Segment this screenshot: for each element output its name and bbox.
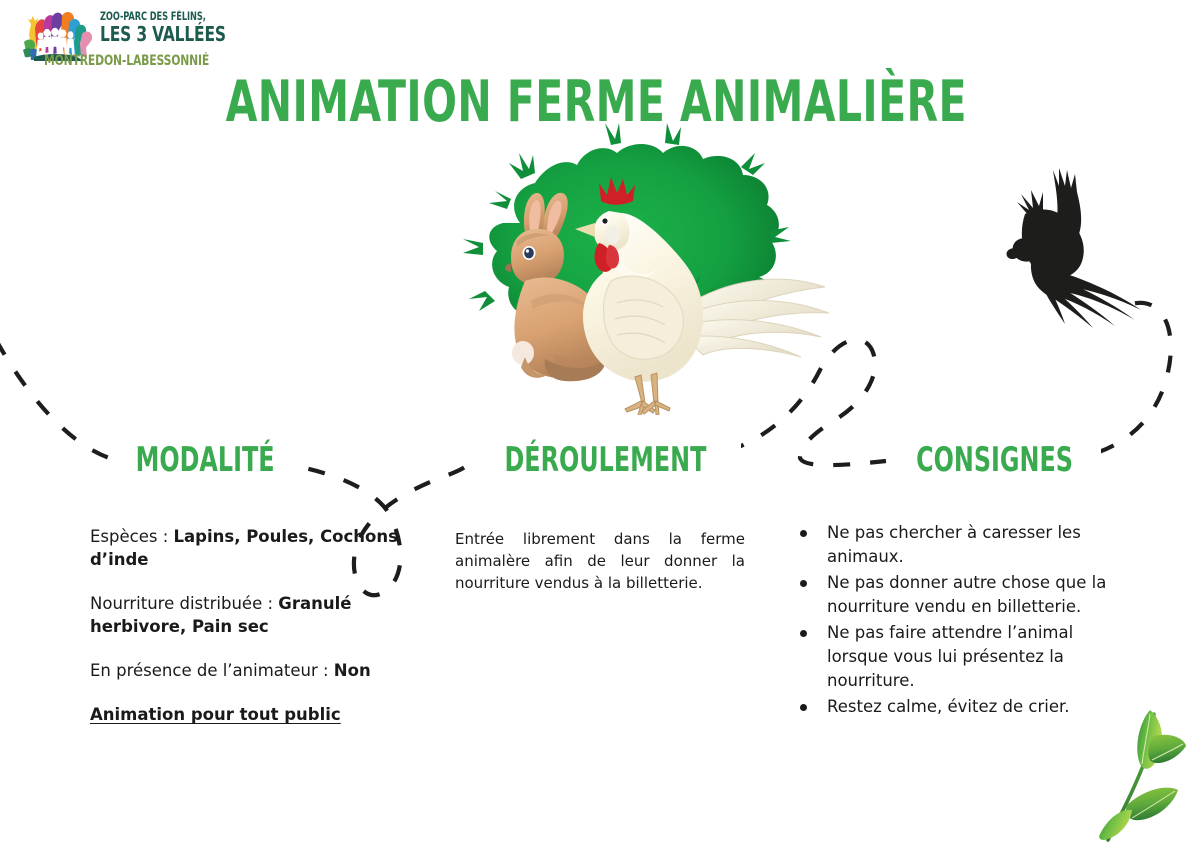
modalite-label-nourriture: Nourriture distribuée :: [90, 594, 278, 613]
modalite-row-nourriture: Nourriture distribuée : Granulé herbivor…: [90, 592, 400, 638]
list-item: Ne pas donner autre chose que la nourrit…: [793, 571, 1123, 619]
section-heading-consignes: CONSIGNES: [888, 441, 1101, 479]
modalite-value-animateur: Non: [334, 661, 371, 680]
logo-line-3: MONTREDON-LABESSONNIÉ: [44, 53, 209, 69]
parrot-silhouette-icon: [995, 168, 1175, 333]
zoo-logo[interactable]: ZOO-PARC DES FÉLINS, LES 3 VALLÉES MONTR…: [22, 8, 222, 74]
section-heading-consignes-text: CONSIGNES: [916, 441, 1073, 479]
modalite-public-note: Animation pour tout public: [90, 703, 400, 726]
logo-line-2: LES 3 VALLÉES: [100, 23, 204, 45]
modalite-row-especes: Espèces : Lapins, Poules, Cochons d’inde: [90, 525, 400, 571]
deroulement-paragraph: Entrée librement dans la ferme animalère…: [455, 528, 745, 594]
section-heading-modalite-text: MODALITÉ: [136, 441, 275, 479]
list-item: Restez calme, évitez de crier.: [793, 695, 1123, 719]
modalite-content: Espèces : Lapins, Poules, Cochons d’inde…: [90, 525, 400, 726]
consignes-list: Ne pas chercher à caresser les animaux. …: [793, 521, 1123, 719]
consignes-content: Ne pas chercher à caresser les animaux. …: [793, 521, 1123, 721]
section-heading-deroulement: DÉROULEMENT: [470, 441, 741, 479]
zoo-logo-text: ZOO-PARC DES FÉLINS, LES 3 VALLÉES MONTR…: [100, 10, 224, 45]
section-heading-deroulement-text: DÉROULEMENT: [504, 441, 706, 479]
section-heading-modalite: MODALITÉ: [110, 441, 300, 479]
modalite-label-animateur: En présence de l’animateur :: [90, 661, 334, 680]
modalite-label-especes: Espèces :: [90, 527, 174, 546]
farm-animals-illustration: [425, 105, 855, 415]
deroulement-content: Entrée librement dans la ferme animalère…: [455, 528, 745, 594]
list-item: Ne pas faire attendre l’animal lorsque v…: [793, 621, 1123, 693]
modalite-row-animateur: En présence de l’animateur : Non: [90, 659, 400, 682]
list-item: Ne pas chercher à caresser les animaux.: [793, 521, 1123, 569]
leaf-sprig-icon: [1082, 692, 1192, 842]
poster-page: ZOO-PARC DES FÉLINS, LES 3 VALLÉES MONTR…: [0, 0, 1192, 842]
